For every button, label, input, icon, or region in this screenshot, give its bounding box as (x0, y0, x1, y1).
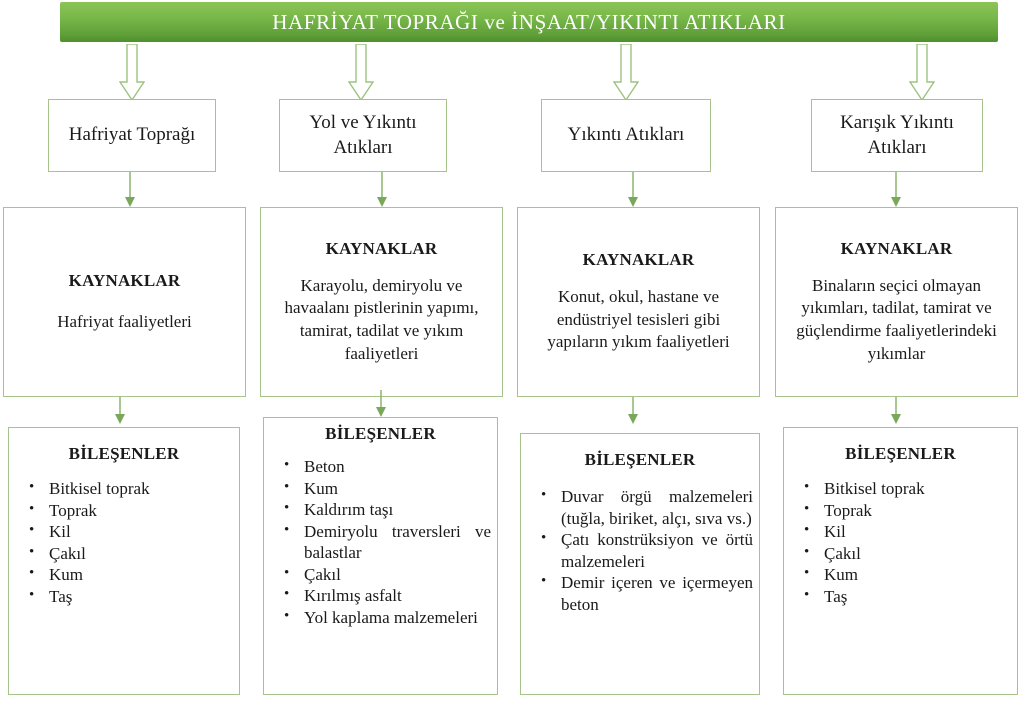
list-item: Bitkisel toprak (15, 478, 233, 500)
sources-heading-4: KAYNAKLAR (786, 239, 1007, 259)
list-item: Duvar örgü malzemeleri (tuğla, biriket, … (527, 486, 753, 529)
components-heading-3: BİLEŞENLER (527, 450, 753, 470)
sources-heading-1: KAYNAKLAR (14, 271, 235, 291)
sources-text-3: Konut, okul, hastane ve endüstriyel tesi… (528, 286, 749, 354)
list-item: Kil (15, 521, 233, 543)
diagram-title: HAFRİYAT TOPRAĞI ve İNŞAAT/YIKINTI ATIKL… (272, 10, 785, 35)
components-box-1[interactable]: BİLEŞENLER Bitkisel toprak Toprak Kil Ça… (8, 427, 240, 695)
sources-heading-3: KAYNAKLAR (528, 250, 749, 270)
category-box-3[interactable]: Yıkıntı Atıkları (541, 99, 711, 172)
block-arrow-down-icon-1 (119, 44, 145, 102)
block-arrow-down-icon-2 (348, 44, 374, 102)
components-list-4: Bitkisel toprak Toprak Kil Çakıl Kum Taş (790, 478, 1011, 607)
list-item: Çakıl (15, 543, 233, 565)
category-label-1: Hafriyat Toprağı (69, 123, 196, 147)
list-item: Çatı konstrüksiyon ve örtü malzemeleri (527, 529, 753, 572)
flowchart-diagram: HAFRİYAT TOPRAĞI ve İNŞAAT/YIKINTI ATIKL… (0, 0, 1024, 706)
category-box-2[interactable]: Yol ve Yıkıntı Atıkları (279, 99, 447, 172)
list-item: Yol kaplama malzemeleri (270, 607, 491, 629)
list-item: Kırılmış asfalt (270, 585, 491, 607)
components-list-1: Bitkisel toprak Toprak Kil Çakıl Kum Taş (15, 478, 233, 607)
list-item: Bitkisel toprak (790, 478, 1011, 500)
sources-text-1: Hafriyat faaliyetleri (14, 311, 235, 334)
list-item: Kum (15, 564, 233, 586)
list-item: Demir içeren ve içermeyen beton (527, 572, 753, 615)
list-item: Taş (790, 586, 1011, 608)
list-item: Demiryolu traversleri ve balastlar (270, 521, 491, 564)
sources-heading-2: KAYNAKLAR (271, 239, 492, 259)
category-label-4: Karışık Yıkıntı Atıkları (820, 111, 974, 160)
list-item: Kaldırım taşı (270, 499, 491, 521)
sources-text-4: Binaların seçici olmayan yıkımları, tadi… (786, 275, 1007, 365)
connector-arrow-icon-2 (374, 172, 390, 208)
components-heading-1: BİLEŞENLER (15, 444, 233, 464)
components-box-2[interactable]: BİLEŞENLER Beton Kum Kaldırım taşı Demir… (263, 417, 498, 695)
category-label-2: Yol ve Yıkıntı Atıkları (288, 111, 438, 160)
connector-arrow-icon-6 (373, 390, 389, 418)
components-heading-4: BİLEŞENLER (790, 444, 1011, 464)
category-box-4[interactable]: Karışık Yıkıntı Atıkları (811, 99, 983, 172)
list-item: Taş (15, 586, 233, 608)
components-box-4[interactable]: BİLEŞENLER Bitkisel toprak Toprak Kil Ça… (783, 427, 1018, 695)
list-item: Çakıl (270, 564, 491, 586)
block-arrow-down-icon-3 (613, 44, 639, 102)
connector-arrow-icon-8 (888, 397, 904, 425)
components-list-3: Duvar örgü malzemeleri (tuğla, biriket, … (527, 486, 753, 615)
connector-arrow-icon-3 (625, 172, 641, 208)
list-item: Toprak (15, 500, 233, 522)
connector-arrow-icon-7 (625, 397, 641, 425)
list-item: Beton (270, 456, 491, 478)
list-item: Toprak (790, 500, 1011, 522)
list-item: Kum (270, 478, 491, 500)
sources-box-1[interactable]: KAYNAKLAR Hafriyat faaliyetleri (3, 207, 246, 397)
components-list-2: Beton Kum Kaldırım taşı Demiryolu traver… (270, 456, 491, 629)
components-heading-2: BİLEŞENLER (270, 424, 491, 444)
sources-box-3[interactable]: KAYNAKLAR Konut, okul, hastane ve endüst… (517, 207, 760, 397)
sources-box-2[interactable]: KAYNAKLAR Karayolu, demiryolu ve havaala… (260, 207, 503, 397)
connector-arrow-icon-5 (112, 397, 128, 425)
components-box-3[interactable]: BİLEŞENLER Duvar örgü malzemeleri (tuğla… (520, 433, 760, 695)
category-label-3: Yıkıntı Atıkları (568, 123, 685, 147)
diagram-title-banner: HAFRİYAT TOPRAĞI ve İNŞAAT/YIKINTI ATIKL… (60, 2, 998, 42)
sources-text-2: Karayolu, demiryolu ve havaalanı pistler… (271, 275, 492, 365)
sources-box-4[interactable]: KAYNAKLAR Binaların seçici olmayan yıkım… (775, 207, 1018, 397)
list-item: Çakıl (790, 543, 1011, 565)
block-arrow-down-icon-4 (909, 44, 935, 102)
list-item: Kil (790, 521, 1011, 543)
connector-arrow-icon-1 (122, 172, 138, 208)
category-box-1[interactable]: Hafriyat Toprağı (48, 99, 216, 172)
list-item: Kum (790, 564, 1011, 586)
connector-arrow-icon-4 (888, 172, 904, 208)
